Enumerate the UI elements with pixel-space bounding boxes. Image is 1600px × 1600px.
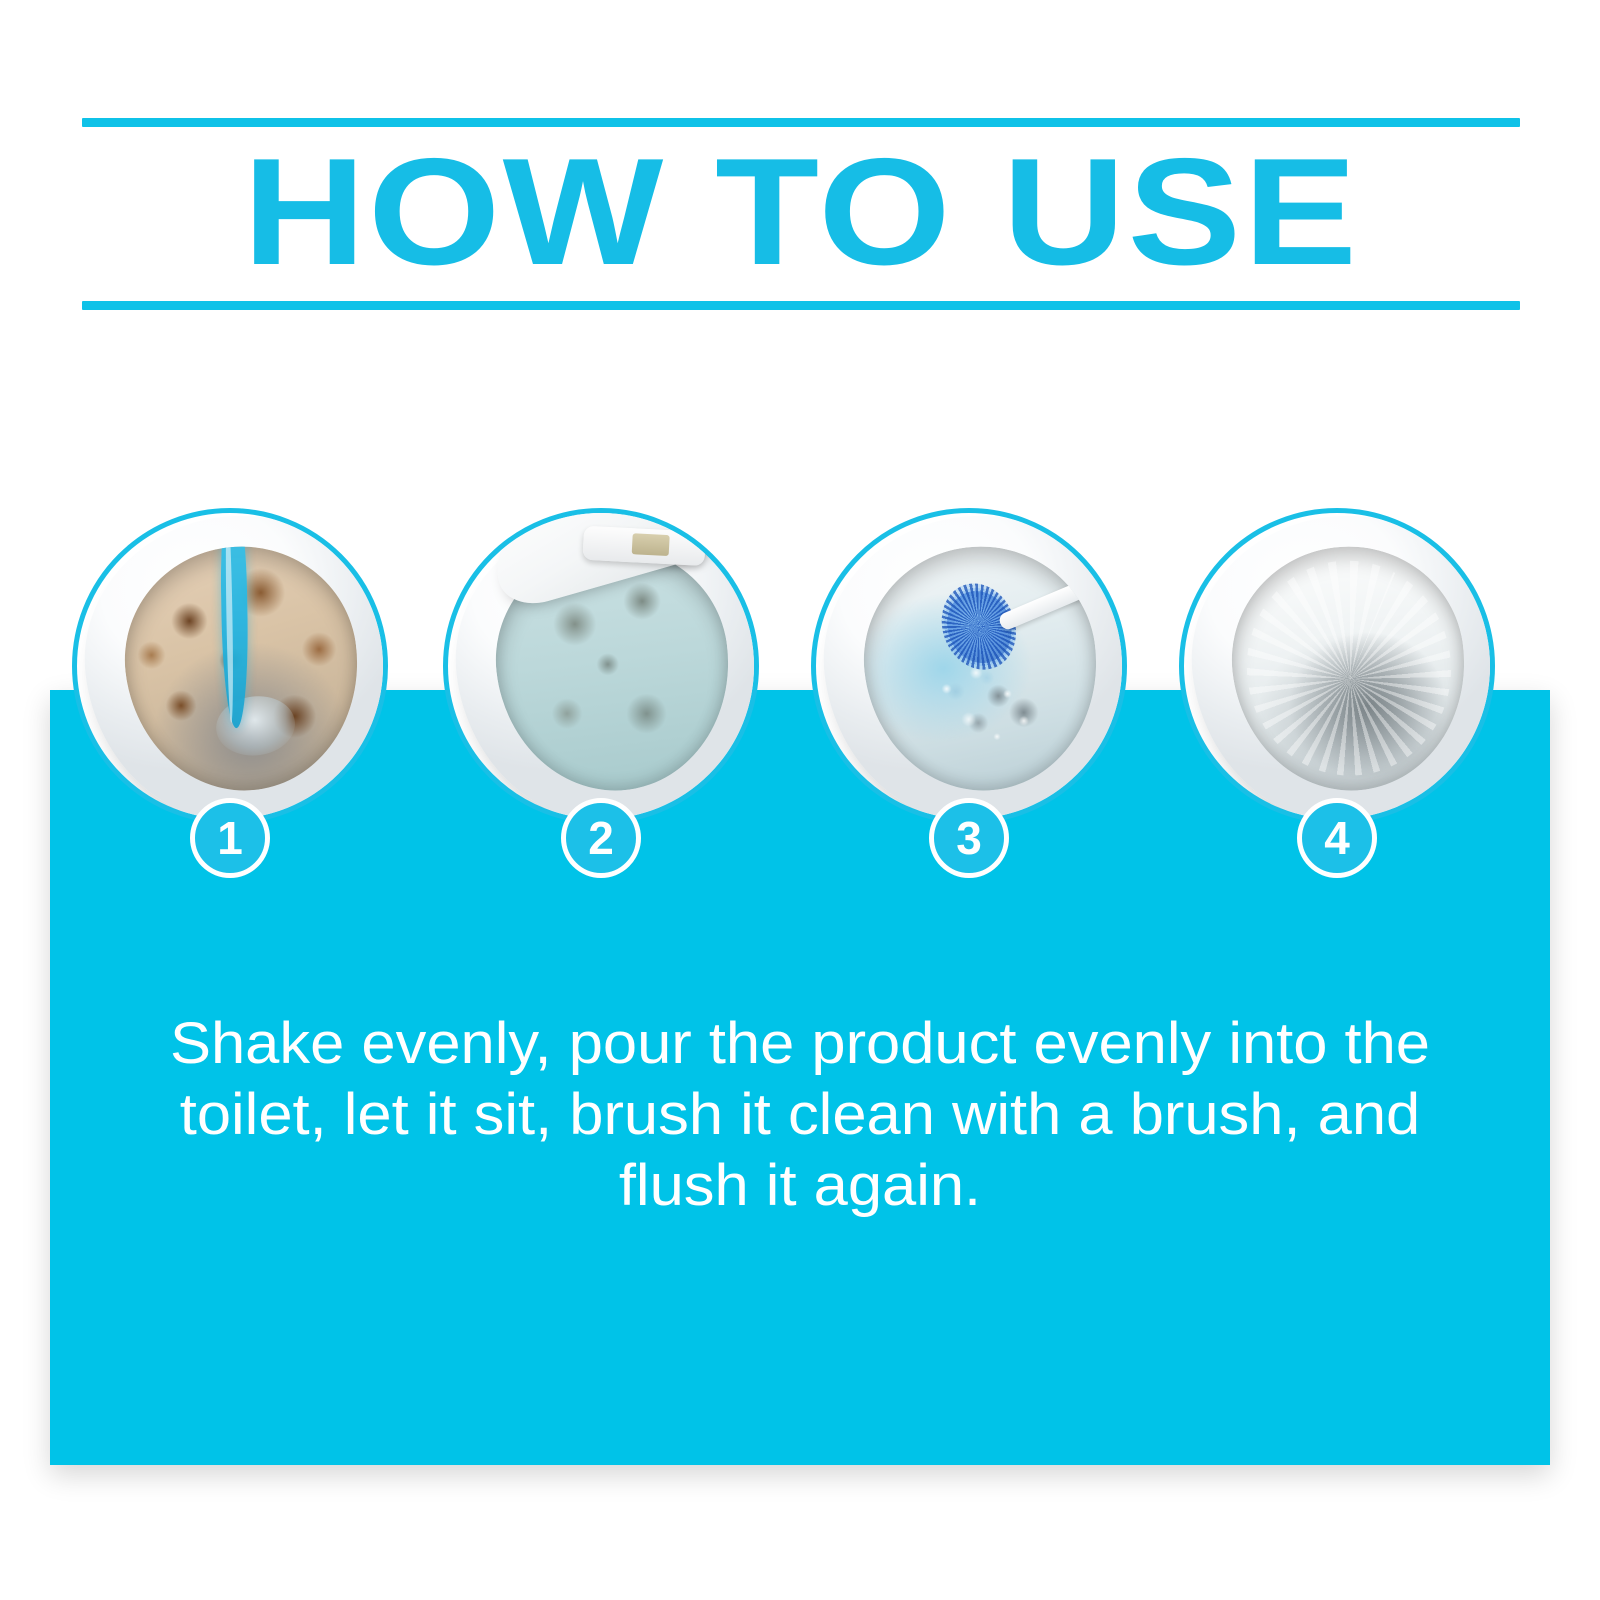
step-badge-2[interactable]: 2 [561, 798, 641, 878]
step-item-4[interactable]: 4 [1179, 508, 1495, 824]
toilet-bowl-icon [72, 508, 388, 824]
splash-icon [214, 692, 300, 760]
instruction-caption: Shake evenly, pour the product evenly in… [122, 1008, 1479, 1221]
step-photo-3 [811, 508, 1127, 824]
step-badge-4[interactable]: 4 [1297, 798, 1377, 878]
title-rule-bottom [82, 301, 1520, 310]
step-photo-1 [72, 508, 388, 824]
foaming-basin-icon [851, 533, 1111, 804]
step-item-1[interactable]: 1 [72, 508, 388, 824]
step-item-3[interactable]: 3 [811, 508, 1127, 824]
toilet-brush-handle-icon [998, 578, 1095, 632]
step-item-2[interactable]: 2 [443, 508, 759, 824]
flush-swirl-icon [1235, 549, 1464, 788]
dirty-basin-icon [112, 533, 372, 804]
step-badge-1[interactable]: 1 [190, 798, 270, 878]
toilet-bowl-icon [811, 508, 1127, 824]
step-photo-2 [443, 508, 759, 824]
toilet-hinge-pin-icon [632, 534, 670, 557]
clean-basin-icon [1219, 533, 1479, 804]
step-photo-4 [1179, 508, 1495, 824]
toilet-bowl-icon [1179, 508, 1495, 824]
step-badge-3[interactable]: 3 [929, 798, 1009, 878]
toilet-bowl-icon [443, 508, 759, 824]
page-title: HOW TO USE [0, 124, 1600, 301]
header-block: HOW TO USE [82, 118, 1520, 310]
